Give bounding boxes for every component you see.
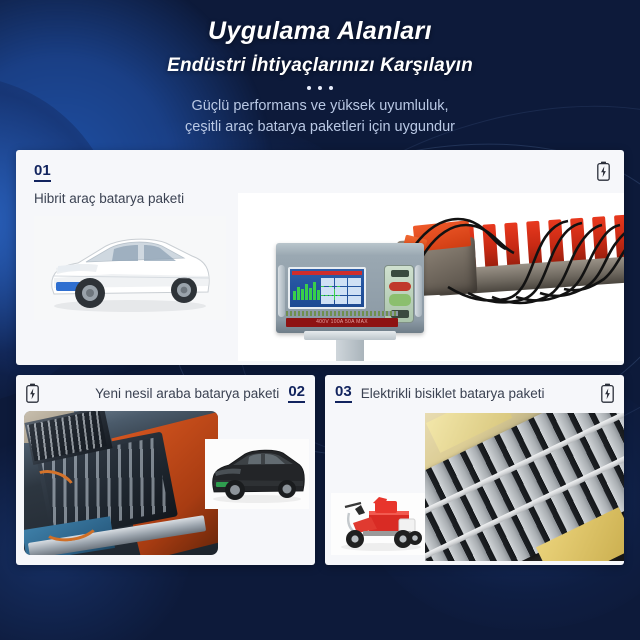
card-3-caption: Elektrikli bisiklet batarya paketi — [361, 386, 545, 401]
card-2-images — [16, 409, 315, 561]
application-areas-banner: Uygulama Alanları Endüstri İhtiyaçlarını… — [0, 0, 640, 640]
card-1-header: 01 Hibrit araç batarya paketi — [34, 162, 184, 206]
page-subtitle: Endüstri İhtiyaçlarınızı Karşılayın — [0, 55, 640, 77]
banner-header: Uygulama Alanları Endüstri İhtiyaçlarını… — [0, 0, 640, 138]
cylindrical-cell-pack-photo — [425, 413, 624, 561]
tester-chassis: 400V 100A 50A MAX — [276, 243, 424, 333]
black-suv-photo — [205, 439, 309, 509]
separator-dot-2 — [318, 86, 322, 90]
battery-charging-icon — [601, 383, 614, 403]
lcd-title-bar — [292, 271, 362, 275]
card-2-header: Yeni nesil araba batarya paketi 02 — [16, 375, 315, 409]
ev-battery-pack-photo — [24, 411, 218, 555]
card-2-caption: Yeni nesil araba batarya paketi — [95, 386, 279, 401]
white-sedan-photo — [34, 216, 226, 320]
tester-handle-left — [278, 265, 285, 317]
card-1-number: 01 — [34, 163, 51, 182]
tagline-line-2: çeşitli araç batarya paketleri için uygu… — [0, 117, 640, 138]
tester-lcd-screen[interactable] — [288, 267, 366, 309]
tester-stand-post — [336, 340, 364, 361]
cards-bottom-row: Yeni nesil araba batarya paketi 02 — [16, 375, 624, 565]
card-1-body: 01 Hibrit araç batarya paketi — [16, 150, 624, 365]
separator-dot-3 — [329, 86, 333, 90]
battery-charging-icon — [26, 383, 39, 403]
card-1-caption: Hibrit araç batarya paketi — [34, 191, 184, 206]
card-next-gen-car-battery-pack[interactable]: Yeni nesil araba batarya paketi 02 — [16, 375, 315, 565]
card-3-number: 03 — [335, 384, 352, 403]
card-hybrid-vehicle-battery-pack[interactable]: 01 Hibrit araç batarya paketi — [16, 150, 624, 365]
separator-dot-1 — [307, 86, 311, 90]
battery-tester-device-photo: 400V 100A 50A MAX — [238, 193, 624, 361]
tester-handle-right — [415, 265, 422, 317]
page-title: Uygulama Alanları — [0, 17, 640, 46]
card-3-header: 03 Elektrikli bisiklet batarya paketi — [325, 375, 624, 409]
tester-base-plate — [304, 331, 396, 340]
card-electric-bicycle-battery-pack[interactable]: 03 Elektrikli bisiklet batarya paketi — [325, 375, 624, 565]
tester-model-plate: 400V 100A 50A MAX — [286, 318, 398, 327]
cards-container: 01 Hibrit araç batarya paketi — [0, 150, 640, 565]
card-2-number: 02 — [288, 384, 305, 403]
tester-model-label: 400V 100A 50A MAX — [286, 318, 398, 327]
tester-indicator-strip — [286, 311, 398, 316]
card-3-images — [325, 409, 624, 561]
tagline-line-1: Güçlü performans ve yüksek uyumluluk, — [0, 96, 640, 117]
lcd-readout-cells — [321, 278, 361, 304]
dot-separator — [0, 86, 640, 90]
red-electric-tricycle-photo — [331, 493, 431, 555]
battery-charging-icon — [597, 161, 610, 181]
